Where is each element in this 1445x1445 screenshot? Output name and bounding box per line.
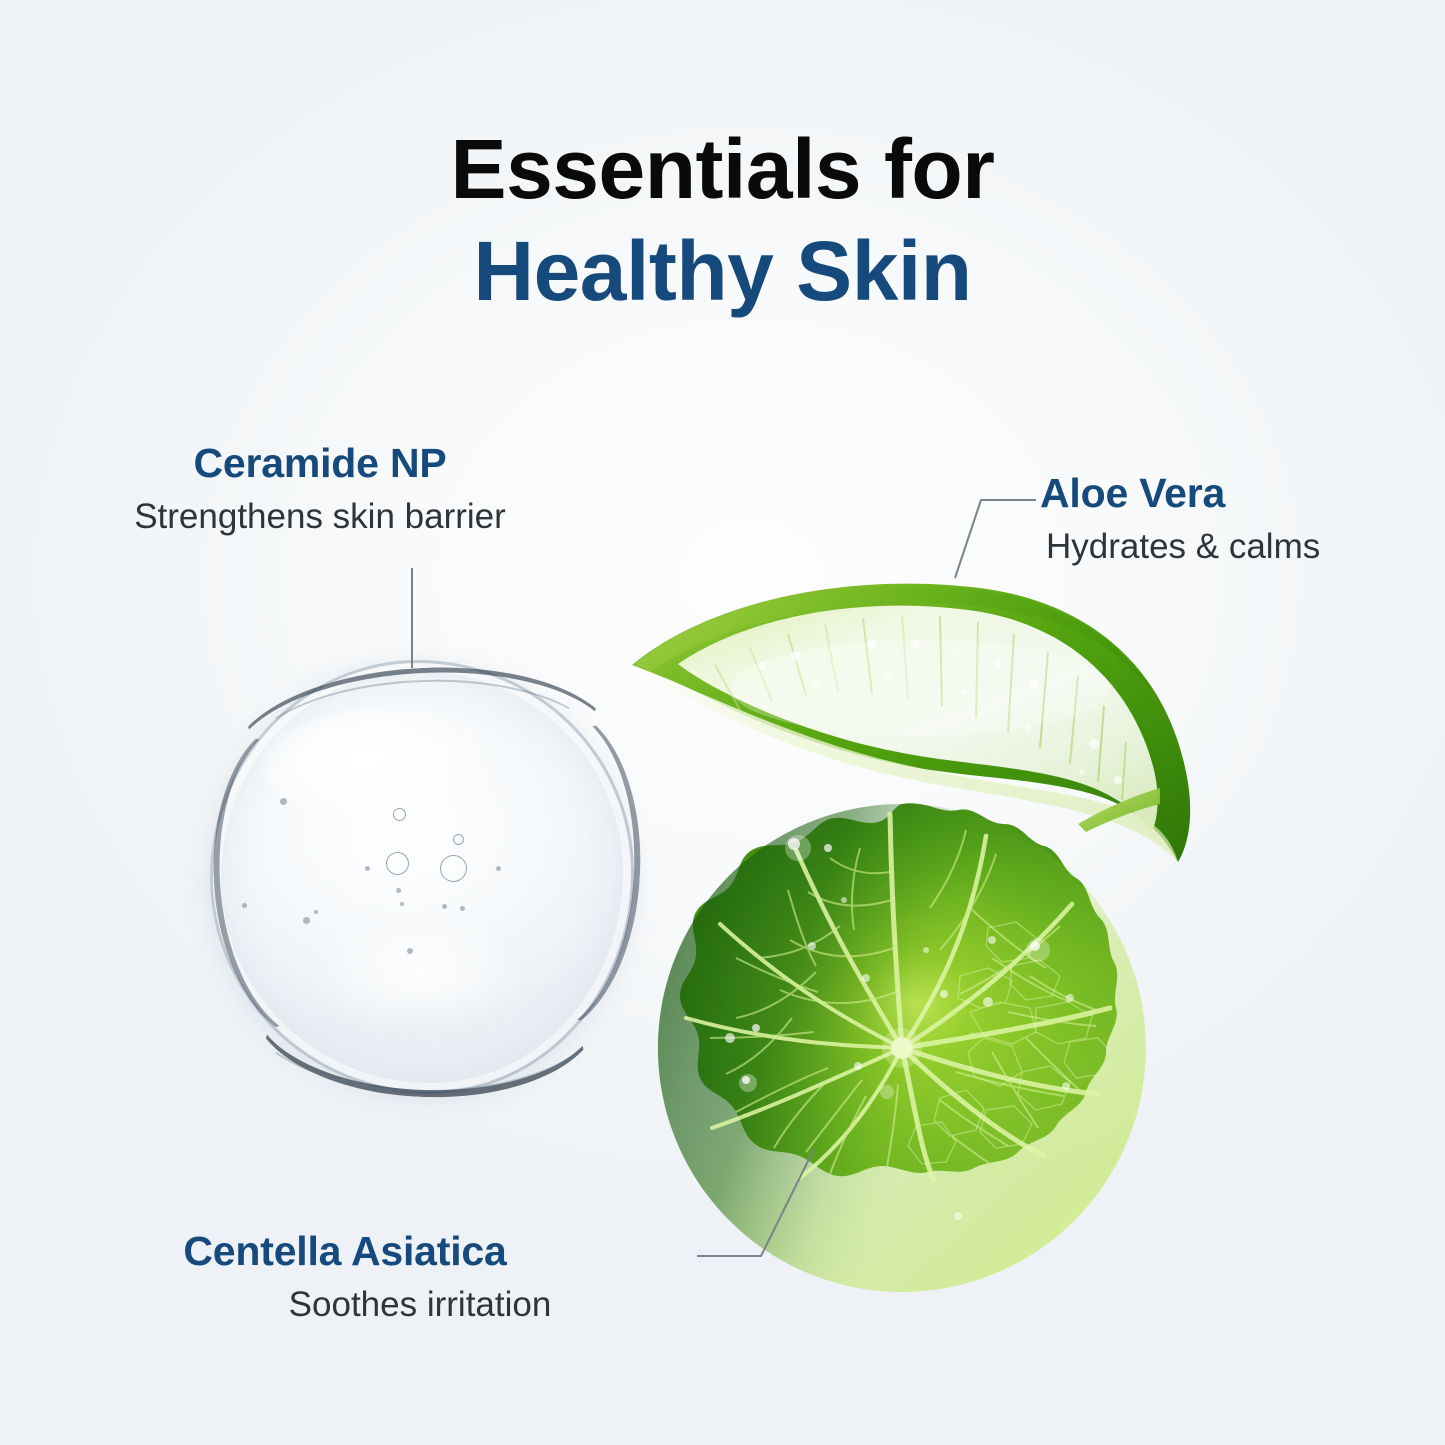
gel-speck xyxy=(460,906,465,911)
aloe-gloss xyxy=(730,640,1110,736)
leaf-body xyxy=(640,780,1160,1300)
gel-speck xyxy=(400,902,404,906)
headline-line-2: Healthy Skin xyxy=(0,224,1445,318)
gel-speck xyxy=(442,904,447,909)
gel-speck xyxy=(365,866,370,871)
headline-line-1: Essentials for xyxy=(0,122,1445,216)
callout-ceramide: Ceramide NP Strengthens skin barrier xyxy=(0,440,640,539)
callout-aloe-title: Aloe Vera xyxy=(1040,470,1320,517)
callout-aloe: Aloe Vera Hydrates & calms xyxy=(1040,470,1320,569)
gel-speck xyxy=(396,888,401,893)
gel-bubble xyxy=(453,834,464,845)
gel-speck xyxy=(314,910,318,914)
callout-aloe-subtitle: Hydrates & calms xyxy=(1046,525,1320,569)
product-infographic: Essentials for Healthy Skin xyxy=(0,0,1445,1445)
ceramide-gel-drop xyxy=(210,660,634,1094)
page-title: Essentials for Healthy Skin xyxy=(0,122,1445,318)
centella-leaf xyxy=(640,780,1160,1300)
gel-speck xyxy=(303,917,310,924)
callout-centella-title: Centella Asiatica xyxy=(0,1228,690,1275)
gel-bubble xyxy=(386,852,409,875)
gel-speck xyxy=(407,948,413,954)
gel-bubble xyxy=(393,808,406,821)
gel-speck xyxy=(280,798,287,805)
callout-centella: Centella Asiatica Soothes irritation xyxy=(0,1228,690,1327)
callout-ceramide-title: Ceramide NP xyxy=(0,440,640,487)
gel-speck xyxy=(242,903,247,908)
callout-ceramide-subtitle: Strengthens skin barrier xyxy=(0,495,640,539)
gel-bubble xyxy=(440,855,467,882)
callout-centella-subtitle: Soothes irritation xyxy=(0,1283,690,1327)
leaf-stem xyxy=(1078,788,1160,832)
gel-speck xyxy=(496,866,501,871)
